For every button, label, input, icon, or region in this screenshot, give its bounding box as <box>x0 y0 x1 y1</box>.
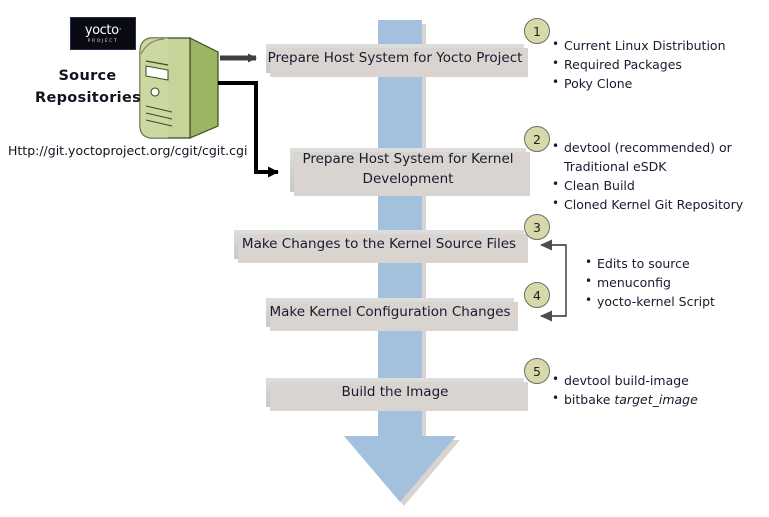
flow-band <box>378 20 422 437</box>
bullet-item-text: Cloned Kernel Git Repository <box>564 197 743 212</box>
bullet-list-steps-3-4: Edits to sourcemenuconfigyocto-kernel Sc… <box>585 255 715 312</box>
diagram-canvas: yocto· PROJECT Source Repositories <box>0 0 769 517</box>
process-box-step1-label: Prepare Host System for Yocto Project <box>268 49 523 69</box>
bullet-item-text: bitbake <box>564 392 614 407</box>
yocto-logo-dot: · <box>119 25 121 35</box>
step-badge-1-label: 1 <box>533 24 541 39</box>
process-box-step4-label: Make Kernel Configuration Changes <box>269 303 510 323</box>
process-box-step4[interactable]: Make Kernel Configuration Changes <box>266 298 514 327</box>
source-label-line2: Repositories <box>35 88 140 110</box>
bullet-item: yocto-kernel Script <box>585 293 715 311</box>
repository-url: Http://git.yoctoproject.org/cgit/cgit.cg… <box>8 143 247 158</box>
bullet-item: menuconfig <box>585 274 715 292</box>
step-badge-2-label: 2 <box>533 132 541 147</box>
step-badge-5: 5 <box>524 358 550 384</box>
step-badge-5-label: 5 <box>533 364 541 379</box>
bullet-list-step2: devtool (recommended) orTraditional eSDK… <box>552 139 743 216</box>
arrow-server-to-step2 <box>218 83 278 172</box>
bullet-list-step5-items: devtool build-imagebitbake target_image <box>552 372 698 409</box>
process-box-step2-label: Prepare Host System for Kernel Developme… <box>302 150 513 189</box>
bullet-item-text: menuconfig <box>597 275 671 290</box>
bullet-list-steps-3-4-items: Edits to sourcemenuconfigyocto-kernel Sc… <box>585 255 715 311</box>
process-box-step3[interactable]: Make Changes to the Kernel Source Files <box>234 230 524 259</box>
bullet-item-emphasis: target_image <box>614 392 697 407</box>
step-badge-3-label: 3 <box>533 220 541 235</box>
yocto-logo-subtext: PROJECT <box>88 39 119 44</box>
process-box-step5-label: Build the Image <box>342 383 449 403</box>
step-badge-2: 2 <box>524 126 550 152</box>
step-badge-4: 4 <box>524 282 550 308</box>
bullet-list-step5: devtool build-imagebitbake target_image <box>552 372 698 410</box>
source-repositories-label: Source Repositories <box>35 66 140 110</box>
bullet-list-step1-items: Current Linux DistributionRequired Packa… <box>552 37 726 93</box>
bullet-item-text: Poky Clone <box>564 76 632 91</box>
server-icon <box>134 30 220 140</box>
bullet-item: Clean Build <box>552 177 743 195</box>
bullet-item-text: devtool build-image <box>564 373 689 388</box>
bullet-list-step2-items: devtool (recommended) orTraditional eSDK… <box>552 139 743 215</box>
source-label-line1: Source <box>35 66 140 88</box>
bullet-item-text: Current Linux Distribution <box>564 38 726 53</box>
bullet-item-text: yocto-kernel Script <box>597 294 715 309</box>
process-box-step2-label-line1: Prepare Host System for Kernel <box>302 151 513 167</box>
yocto-logo-wordmark: yocto· <box>85 24 121 37</box>
process-box-step3-label: Make Changes to the Kernel Source Files <box>242 235 516 255</box>
process-box-step5[interactable]: Build the Image <box>266 378 524 407</box>
bullet-item: Traditional eSDK <box>552 158 743 176</box>
bullet-item: devtool build-image <box>552 372 698 390</box>
bullet-item: Cloned Kernel Git Repository <box>552 196 743 214</box>
bullet-item: Edits to source <box>585 255 715 273</box>
step-badge-1: 1 <box>524 18 550 44</box>
bullet-item: bitbake target_image <box>552 391 698 409</box>
bullet-item-text: devtool (recommended) or <box>564 140 732 155</box>
bullet-list-step1: Current Linux DistributionRequired Packa… <box>552 37 726 94</box>
bullet-item-text: Traditional eSDK <box>564 159 667 174</box>
bullet-item: devtool (recommended) or <box>552 139 743 157</box>
bullet-item-text: Required Packages <box>564 57 682 72</box>
step-badge-4-label: 4 <box>533 288 541 303</box>
bullet-item-text: Clean Build <box>564 178 635 193</box>
bullet-item: Poky Clone <box>552 75 726 93</box>
flow-arrowhead-icon <box>344 436 456 502</box>
process-box-step1[interactable]: Prepare Host System for Yocto Project <box>266 44 524 73</box>
bullet-item: Current Linux Distribution <box>552 37 726 55</box>
step-badge-3: 3 <box>524 214 550 240</box>
process-box-step2-label-line2: Development <box>363 171 454 187</box>
yocto-project-logo: yocto· PROJECT <box>70 17 136 50</box>
bullet-item-text: Edits to source <box>597 256 690 271</box>
yocto-logo-text: yocto <box>85 23 119 38</box>
bullet-item: Required Packages <box>552 56 726 74</box>
process-box-step2[interactable]: Prepare Host System for Kernel Developme… <box>290 148 526 192</box>
